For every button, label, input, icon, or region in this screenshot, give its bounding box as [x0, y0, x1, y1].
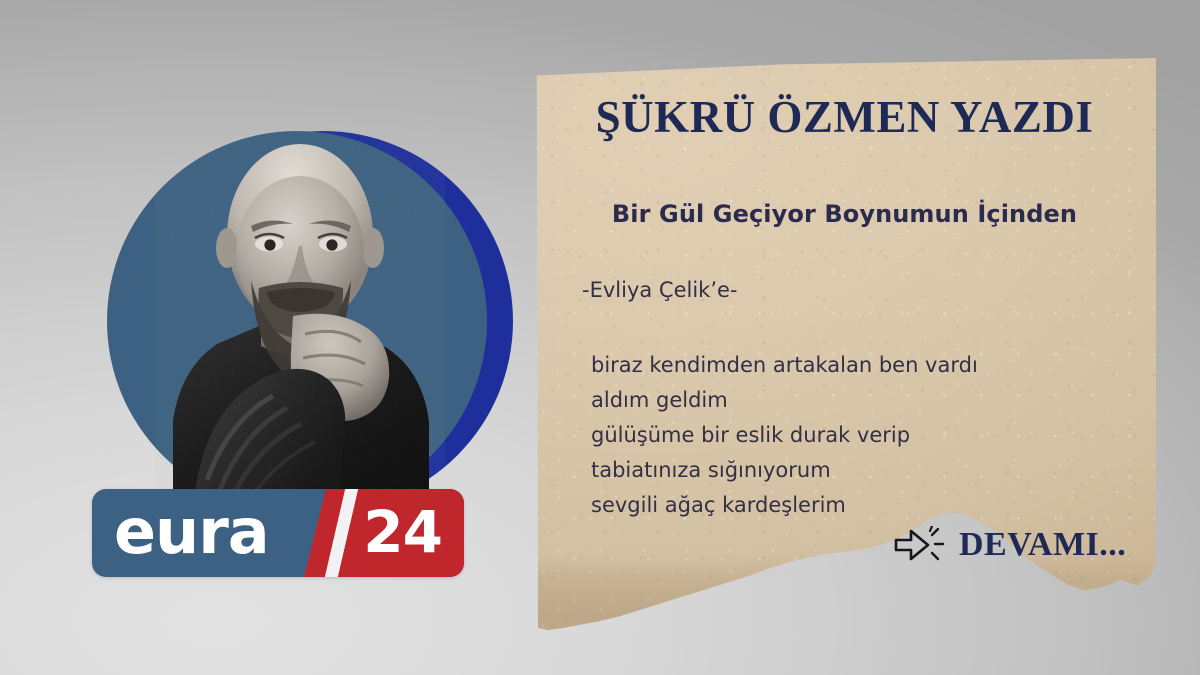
poem-title: Bir Gül Geçiyor Boynumun İçinden — [533, 200, 1156, 229]
poem-line: biraz kendimden artakalan ben vardı — [591, 348, 978, 383]
click-arrow-icon — [893, 526, 945, 564]
poem-line: gülüşüme bir eslik durak verip — [591, 418, 978, 453]
poem-line: tabiatınıza sığınıyorum — [591, 453, 978, 488]
logo-wordmark-eura: eura — [114, 501, 269, 563]
poem-line: sevgili ağaç kardeşlerim — [591, 488, 978, 523]
poem-dedication: -Evliya Çelik’e- — [582, 278, 738, 303]
poster-canvas: eura 24 ŞÜKRÜ ÖZMEN YAZDI Bir Gül Geçiyo… — [0, 0, 1200, 675]
author-portrait — [155, 120, 445, 492]
logo-wordmark-24: 24 — [363, 503, 442, 561]
poem-body: biraz kendimden artakalan ben vardı aldı… — [591, 348, 978, 523]
card-content: ŞÜKRÜ ÖZMEN YAZDI Bir Gül Geçiyor Boynum… — [533, 58, 1156, 643]
page-title: ŞÜKRÜ ÖZMEN YAZDI — [533, 94, 1156, 141]
eura24-logo[interactable]: eura 24 — [92, 489, 464, 577]
read-more-label: DEVAMI... — [959, 528, 1126, 562]
left-visual-group: eura 24 — [0, 0, 530, 675]
read-more-button[interactable]: DEVAMI... — [893, 526, 1126, 564]
poem-line: aldım geldim — [591, 383, 978, 418]
